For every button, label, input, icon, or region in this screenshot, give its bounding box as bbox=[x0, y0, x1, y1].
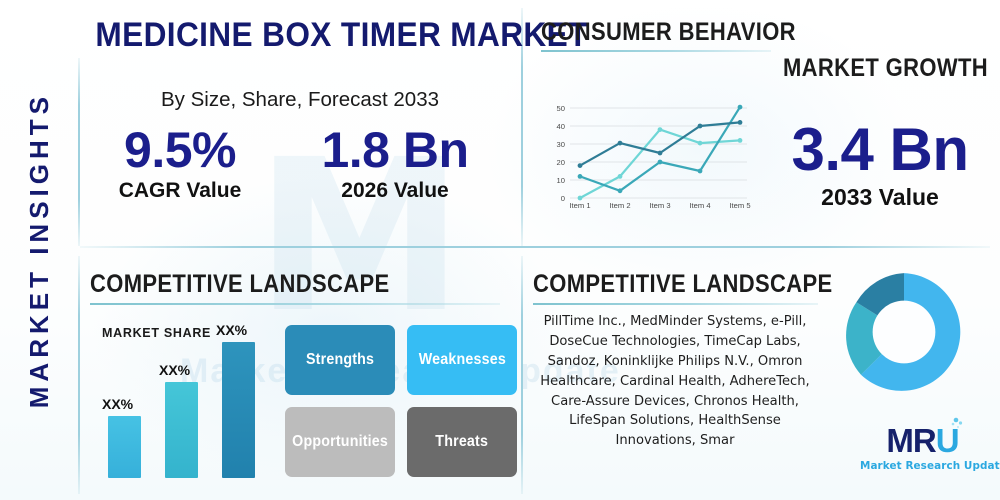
chart-y-ticks: 50 40 30 20 10 0 bbox=[557, 104, 565, 203]
kpi-2033-label: 2033 Value bbox=[760, 184, 1000, 211]
swot-threats[interactable]: Threats bbox=[407, 407, 517, 477]
svg-text:40: 40 bbox=[557, 122, 565, 131]
mru-logo-tagline: Market Research Update bbox=[860, 460, 985, 472]
svg-text:30: 30 bbox=[557, 140, 565, 149]
swot-weaknesses[interactable]: Weaknesses bbox=[407, 325, 517, 395]
svg-text:Item 2: Item 2 bbox=[609, 201, 630, 210]
competitive-landscape-left-heading: COMPETITIVE LANDSCAPE bbox=[90, 270, 390, 299]
swot-opportunities[interactable]: Opportunities bbox=[285, 407, 395, 477]
svg-text:20: 20 bbox=[557, 158, 565, 167]
svg-text:Item 4: Item 4 bbox=[689, 201, 710, 210]
kpi-market-growth: 3.4 Bn 2033 Value bbox=[760, 118, 1000, 211]
svg-text:Item 5: Item 5 bbox=[729, 201, 750, 210]
competitive-landscape-right-rule bbox=[533, 303, 818, 305]
kpi-cagr: 9.5% CAGR Value bbox=[85, 124, 275, 203]
bar-3 bbox=[222, 342, 255, 478]
swot-weaknesses-label: Weaknesses bbox=[418, 351, 505, 369]
market-insights-label: MARKET INSIGHTS bbox=[24, 92, 55, 408]
svg-text:Item 1: Item 1 bbox=[569, 201, 590, 210]
svg-text:Item 3: Item 3 bbox=[649, 201, 670, 210]
svg-text:10: 10 bbox=[557, 176, 565, 185]
mru-logo: MRU Market Research Update bbox=[860, 424, 985, 472]
company-list: PillTime Inc., MedMinder Systems, e-Pill… bbox=[530, 312, 820, 451]
divider-vertical-bottom-left bbox=[78, 256, 80, 494]
competitive-landscape-left-rule bbox=[90, 303, 500, 305]
donut-hole bbox=[873, 301, 936, 364]
kpi-2033-value: 3.4 Bn bbox=[760, 118, 1000, 181]
consumer-behavior-line-chart: 50 40 30 20 10 0 bbox=[542, 98, 757, 210]
divider-vertical-bottom-mid bbox=[521, 256, 523, 494]
mru-logo-mark: MRU bbox=[886, 424, 958, 457]
bar-2 bbox=[165, 382, 198, 478]
divider-vertical-left bbox=[78, 58, 80, 246]
mru-logo-mr: MR bbox=[886, 422, 935, 459]
kpi-2026-value: 1.8 Bn bbox=[300, 124, 490, 177]
consumer-behavior-heading: CONSUMER BEHAVIOR bbox=[541, 18, 796, 47]
kpi-cagr-value: 9.5% bbox=[85, 124, 275, 177]
kpi-2026-label: 2026 Value bbox=[300, 179, 490, 203]
bar-1 bbox=[108, 416, 141, 478]
bar-3-label: XX% bbox=[216, 322, 247, 338]
chart-x-ticks: Item 1 Item 2 Item 3 Item 4 Item 5 bbox=[569, 201, 750, 210]
swot-grid: Strengths Weaknesses Opportunities Threa… bbox=[285, 325, 517, 480]
infographic-canvas: M Market Research Update MARKET INSIGHTS… bbox=[0, 0, 1000, 500]
kpi-cagr-label: CAGR Value bbox=[85, 179, 275, 203]
consumer-behavior-rule bbox=[541, 50, 771, 52]
swot-strengths[interactable]: Strengths bbox=[285, 325, 395, 395]
market-share-bar-chart: XX% XX% XX% bbox=[100, 340, 275, 478]
bar-1-label: XX% bbox=[102, 396, 133, 412]
divider-horizontal-main bbox=[80, 246, 990, 248]
page-title: MEDICINE BOX TIMER MARKET bbox=[95, 16, 504, 55]
competitive-landscape-right-heading: COMPETITIVE LANDSCAPE bbox=[533, 270, 833, 299]
swot-opportunities-label: Opportunities bbox=[292, 433, 388, 451]
bar-2-label: XX% bbox=[159, 362, 190, 378]
market-share-donut-chart bbox=[840, 268, 968, 396]
svg-text:50: 50 bbox=[557, 104, 565, 113]
market-insights-rail: MARKET INSIGHTS bbox=[0, 0, 78, 500]
market-growth-heading: MARKET GROWTH bbox=[783, 54, 988, 83]
kpi-2026: 1.8 Bn 2026 Value bbox=[300, 124, 490, 203]
swot-threats-label: Threats bbox=[436, 433, 489, 451]
market-share-title: MARKET SHARE bbox=[102, 326, 211, 340]
swot-strengths-label: Strengths bbox=[306, 351, 374, 369]
page-subtitle: By Size, Share, Forecast 2033 bbox=[80, 88, 520, 112]
svg-text:0: 0 bbox=[561, 194, 565, 203]
bubbles-icon bbox=[948, 417, 964, 435]
